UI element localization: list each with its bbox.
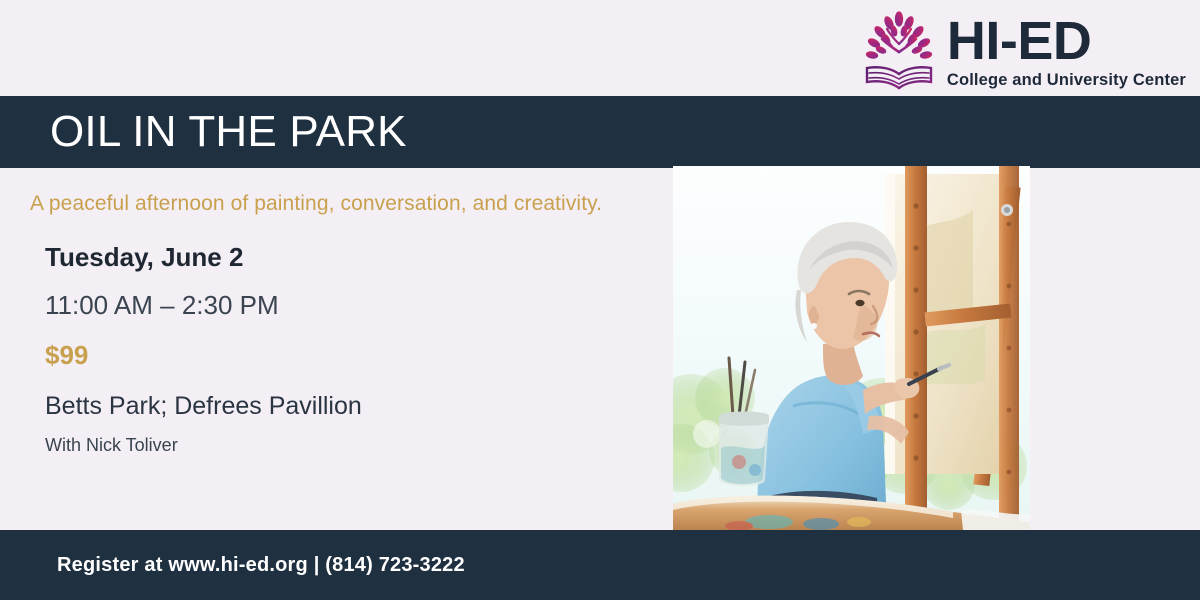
- event-price: $99: [45, 342, 362, 368]
- event-instructor: With Nick Toliver: [45, 436, 362, 454]
- event-details: Tuesday, June 2 11:00 AM – 2:30 PM $99 B…: [45, 244, 362, 454]
- brand-tagline: College and University Center: [947, 71, 1186, 90]
- top-strip: HI-ED College and University Center: [0, 0, 1200, 96]
- event-subtitle: A peaceful afternoon of painting, conver…: [30, 192, 602, 216]
- register-info: Register at www.hi-ed.org | (814) 723-32…: [57, 554, 465, 577]
- brand-text: HI-ED College and University Center: [947, 6, 1186, 90]
- brand-name: HI-ED: [947, 14, 1092, 69]
- tree-book-icon: [859, 6, 939, 98]
- event-date: Tuesday, June 2: [45, 244, 362, 270]
- title-band: OIL IN THE PARK: [0, 96, 1200, 168]
- event-photo: [673, 166, 1030, 530]
- footer-band: Register at www.hi-ed.org | (814) 723-32…: [0, 530, 1200, 600]
- page-title: OIL IN THE PARK: [50, 110, 407, 154]
- event-time: 11:00 AM – 2:30 PM: [45, 292, 362, 318]
- event-flyer: HI-ED College and University Center OIL …: [0, 0, 1200, 600]
- brand-logo: HI-ED College and University Center: [859, 6, 1186, 98]
- event-venue: Betts Park; Defrees Pavillion: [45, 394, 362, 419]
